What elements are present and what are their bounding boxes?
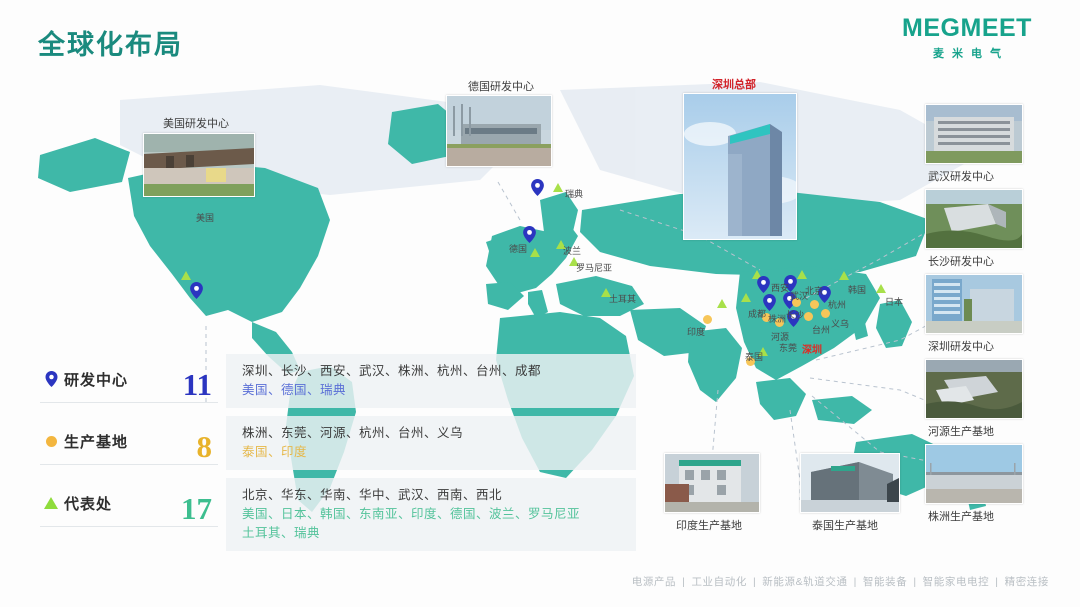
photo-caption-heyuan-plant: 河源生产基地 bbox=[928, 423, 994, 439]
photo-us-rnd bbox=[143, 133, 255, 197]
map-label: 西安 bbox=[771, 281, 789, 294]
triangle-icon bbox=[40, 497, 62, 509]
map-label: 武汉 bbox=[790, 289, 808, 302]
map-label: 台州 bbox=[812, 323, 830, 336]
map-marker-usa-pin[interactable] bbox=[190, 282, 203, 304]
legend-count-office: 17 bbox=[181, 493, 212, 524]
map-marker-taizhou-dot[interactable] bbox=[804, 312, 813, 321]
legend-domestic-office: 北京、华东、华南、华中、武汉、西南、西北 bbox=[242, 486, 624, 505]
footer-item: 精密连接 bbox=[1002, 576, 1052, 588]
map-marker-chengdu-triangle[interactable] bbox=[741, 293, 751, 302]
footer-separator: | bbox=[851, 576, 860, 588]
map-marker-beijing-triangle[interactable] bbox=[797, 270, 807, 279]
photo-caption-india-plant: 印度生产基地 bbox=[676, 517, 742, 533]
legend-row-plant: 生产基地 8 株洲、东莞、河源、杭州、台州、义乌 泰国、印度 bbox=[40, 418, 640, 480]
footer-item: 电源产品 bbox=[629, 576, 679, 588]
logo-wordmark: MEGMEET bbox=[882, 16, 1052, 41]
photo-de-rnd bbox=[446, 95, 552, 167]
map-marker-sweden-triangle[interactable] bbox=[553, 183, 563, 192]
logo-chinese-name: 麦米电气 bbox=[882, 45, 1052, 61]
page-title: 全球化布局 bbox=[38, 23, 183, 62]
map-marker-korea-triangle[interactable] bbox=[839, 271, 849, 280]
map-marker-germany-triangle[interactable] bbox=[530, 248, 540, 257]
map-label: 义乌 bbox=[831, 317, 849, 330]
legend-count-plant: 8 bbox=[197, 431, 213, 462]
footer-item: 智能装备 bbox=[860, 576, 910, 588]
legend-overseas2-office: 土耳其、瑞典 bbox=[242, 524, 624, 543]
legend-overseas-office: 美国、日本、韩国、东南亚、印度、德国、波兰、罗马尼亚 bbox=[242, 505, 624, 524]
map-label: 瑞典 bbox=[565, 187, 583, 200]
photo-shenzhen-rnd bbox=[925, 274, 1023, 334]
map-label: 美国 bbox=[196, 211, 214, 224]
map-marker-extra-dot[interactable] bbox=[810, 300, 819, 309]
footer-item: 工业自动化 bbox=[688, 576, 750, 588]
company-logo: MEGMEET 麦米电气 bbox=[882, 16, 1052, 61]
map-label: 株洲 bbox=[768, 312, 786, 325]
map-label: 波兰 bbox=[563, 244, 581, 257]
map-label: 韩国 bbox=[848, 283, 866, 296]
legend-body-office: 北京、华东、华南、华中、武汉、西南、西北 美国、日本、韩国、东南亚、印度、德国、… bbox=[226, 478, 636, 551]
footer-separator: | bbox=[992, 576, 1001, 588]
photo-caption-zhuzhou-plant: 株洲生产基地 bbox=[928, 508, 994, 524]
legend-domestic-rnd: 深圳、长沙、西安、武汉、株洲、杭州、台州、成都 bbox=[242, 362, 624, 381]
map-label: 罗马尼亚 bbox=[576, 261, 612, 274]
photo-caption-thai-plant: 泰国生产基地 bbox=[812, 517, 878, 533]
map-marker-japan-triangle[interactable] bbox=[876, 284, 886, 293]
legend-row-office: 代表处 17 北京、华东、华南、华中、武汉、西南、西北 美国、日本、韩国、东南亚… bbox=[40, 480, 640, 556]
map-label: 杭州 bbox=[828, 298, 846, 311]
legend-label-rnd: 研发中心 bbox=[64, 369, 128, 390]
photo-sz-hq bbox=[683, 93, 797, 240]
legend-panel: 研发中心 11 深圳、长沙、西安、武汉、株洲、杭州、台州、成都 美国、德国、瑞典… bbox=[40, 356, 640, 556]
photo-caption-wuhan-rnd: 武汉研发中心 bbox=[928, 168, 994, 184]
footer-item: 新能源&轨道交通 bbox=[759, 576, 850, 588]
map-label: 长沙 bbox=[786, 308, 804, 321]
legend-domestic-plant: 株洲、东莞、河源、杭州、台州、义乌 bbox=[242, 424, 624, 443]
footer-item: 智能家电电控 bbox=[920, 576, 993, 588]
photo-india-plant bbox=[664, 453, 760, 513]
footer-separator: | bbox=[750, 576, 759, 588]
legend-label-office: 代表处 bbox=[64, 493, 112, 514]
photo-caption-us-rnd: 美国研发中心 bbox=[163, 115, 229, 131]
footer-separator: | bbox=[910, 576, 919, 588]
photo-caption-changsha-rnd: 长沙研发中心 bbox=[928, 253, 994, 269]
legend-row-office-head: 代表处 17 bbox=[40, 480, 218, 527]
map-label: 印度 bbox=[687, 325, 705, 338]
map-label: 成都 bbox=[748, 307, 766, 320]
circle-dot-icon bbox=[40, 436, 62, 447]
map-marker-india-triangle[interactable] bbox=[717, 299, 727, 308]
photo-caption-shenzhen-rnd: 深圳研发中心 bbox=[928, 338, 994, 354]
legend-row-rnd: 研发中心 11 深圳、长沙、西安、武汉、株洲、杭州、台州、成都 美国、德国、瑞典 bbox=[40, 356, 640, 418]
photo-heyuan-plant bbox=[925, 359, 1023, 419]
photo-wuhan-rnd bbox=[925, 104, 1023, 164]
legend-body-plant: 株洲、东莞、河源、杭州、台州、义乌 泰国、印度 bbox=[226, 416, 636, 470]
map-label: 土耳其 bbox=[609, 292, 636, 305]
map-label: 德国 bbox=[509, 242, 527, 255]
map-label: 深圳 bbox=[802, 341, 822, 356]
map-label: 东莞 bbox=[779, 341, 797, 354]
legend-body-rnd: 深圳、长沙、西安、武汉、株洲、杭州、台州、成都 美国、德国、瑞典 bbox=[226, 354, 636, 408]
photo-zhuzhou-plant bbox=[925, 444, 1023, 504]
photo-changsha-rnd bbox=[925, 189, 1023, 249]
slide-canvas: 全球化布局 MEGMEET 麦米电气 .land{fill:#3fb8a8;} … bbox=[0, 0, 1080, 607]
legend-row-plant-head: 生产基地 8 bbox=[40, 418, 218, 465]
map-marker-usa-triangle[interactable] bbox=[181, 271, 191, 280]
footer-product-lines: 电源产品|工业自动化|新能源&轨道交通|智能装备|智能家电电控|精密连接 bbox=[629, 574, 1052, 589]
map-marker-sweden-pin[interactable] bbox=[531, 179, 544, 201]
legend-row-rnd-head: 研发中心 11 bbox=[40, 356, 218, 403]
map-pin-icon bbox=[40, 371, 62, 387]
legend-label-plant: 生产基地 bbox=[64, 431, 128, 452]
photo-thai-plant bbox=[800, 453, 900, 513]
map-marker-india-dot[interactable] bbox=[703, 315, 712, 324]
map-label: 泰国 bbox=[745, 350, 763, 363]
legend-count-rnd: 11 bbox=[183, 369, 212, 400]
legend-overseas-rnd: 美国、德国、瑞典 bbox=[242, 381, 624, 400]
photo-caption-de-rnd: 德国研发中心 bbox=[468, 78, 534, 94]
map-label: 日本 bbox=[885, 295, 903, 308]
photo-caption-sz-hq: 深圳总部 bbox=[712, 76, 756, 92]
legend-overseas-plant: 泰国、印度 bbox=[242, 443, 624, 462]
